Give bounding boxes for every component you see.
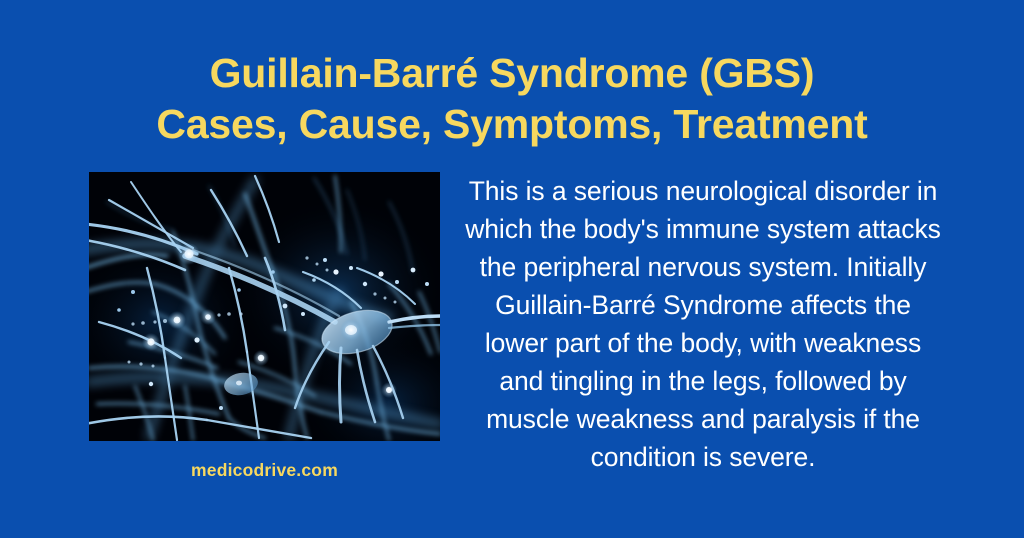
description-line-2: which the body's immune system attacks (455, 210, 951, 248)
page-title: Guillain-Barré Syndrome (GBS) Cases, Cau… (0, 48, 1024, 150)
description-paragraph: This is a serious neurological disorder … (455, 172, 951, 476)
title-line-2: Cases, Cause, Symptoms, Treatment (0, 99, 1024, 150)
title-line-1: Guillain-Barré Syndrome (GBS) (0, 48, 1024, 99)
source-attribution: medicodrive.com (89, 460, 440, 481)
description-line-5: lower part of the body, with weakness (455, 324, 951, 362)
description-line-1: This is a serious neurological disorder … (455, 172, 951, 210)
description-line-4: Guillain-Barré Syndrome affects the (455, 286, 951, 324)
neuron-network-image (89, 172, 440, 441)
description-line-8: condition is severe. (455, 438, 951, 476)
description-line-3: the peripheral nervous system. Initially (455, 248, 951, 286)
website-label: medicodrive.com (191, 460, 338, 480)
description-line-6: and tingling in the legs, followed by (455, 362, 951, 400)
content-row: This is a serious neurological disorder … (0, 172, 1024, 442)
infographic-poster: Guillain-Barré Syndrome (GBS) Cases, Cau… (0, 0, 1024, 538)
description-line-7: muscle weakness and paralysis if the (455, 400, 951, 438)
